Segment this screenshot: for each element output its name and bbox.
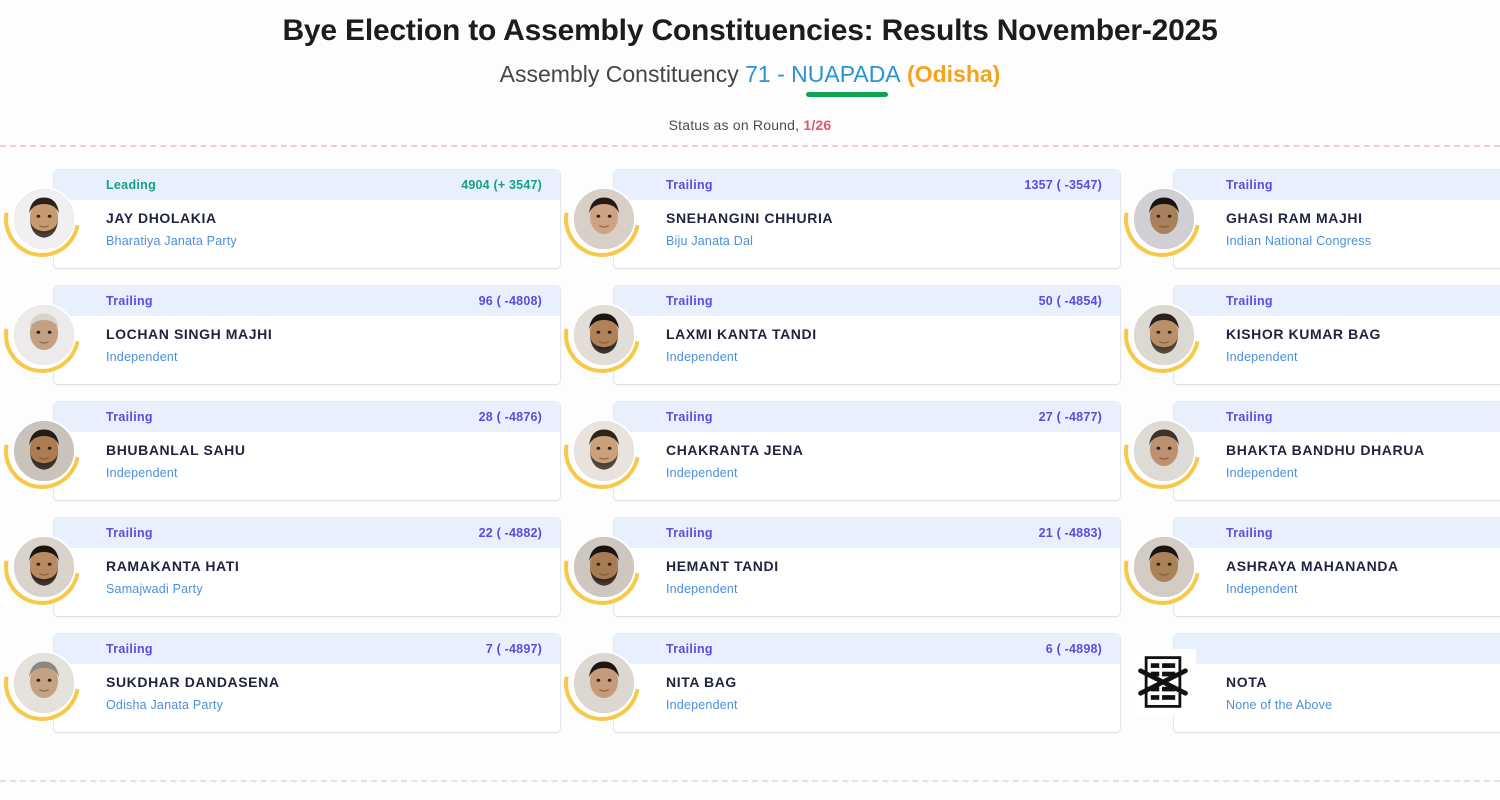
candidate-party[interactable]: Independent: [106, 466, 542, 481]
candidate-card[interactable]: Trailing 28 ( -4876) BHUBANLAL SAHU Inde…: [0, 393, 560, 509]
candidate-card-body[interactable]: Trailing 28 ( -4876) BHUBANLAL SAHU Inde…: [54, 402, 560, 500]
candidate-name: SNEHANGINI CHHURIA: [666, 210, 1102, 227]
vote-count: 22 ( -4882): [479, 526, 542, 540]
candidate-details: ASHRAYA MAHANANDA Independent: [1174, 548, 1500, 616]
candidate-card[interactable]: Trailing ASHRAYA MAHANANDA Independent: [1120, 509, 1500, 625]
candidate-details: LAXMI KANTA TANDI Independent: [614, 316, 1120, 384]
candidate-card-header: Trailing 1357 ( -3547): [614, 170, 1120, 200]
candidate-party[interactable]: Odisha Janata Party: [106, 698, 542, 713]
candidate-name: RAMAKANTA HATI: [106, 558, 542, 575]
candidate-details: NOTA None of the Above: [1174, 664, 1500, 732]
vote-count: 21 ( -4883): [1039, 526, 1102, 540]
candidate-card-body[interactable]: Trailing 1357 ( -3547) SNEHANGINI CHHURI…: [614, 170, 1120, 268]
candidate-name: GHASI RAM MAJHI: [1226, 210, 1500, 227]
candidate-party[interactable]: Independent: [1226, 466, 1500, 481]
candidate-card[interactable]: Trailing KISHOR KUMAR BAG Independent: [1120, 277, 1500, 393]
candidate-details: LOCHAN SINGH MAJHI Independent: [54, 316, 560, 384]
candidate-card-body[interactable]: Leading 4904 (+ 3547) JAY DHOLAKIA Bhara…: [54, 170, 560, 268]
candidate-party[interactable]: Independent: [1226, 350, 1500, 365]
candidate-card[interactable]: Trailing 27 ( -4877) CHAKRANTA JENA Inde…: [560, 393, 1120, 509]
candidate-party[interactable]: Independent: [106, 350, 542, 365]
avatar-wrap: [564, 297, 640, 373]
candidate-name: HEMANT TANDI: [666, 558, 1102, 575]
vote-count: 4904 (+ 3547): [461, 178, 542, 192]
candidate-name: LAXMI KANTA TANDI: [666, 326, 1102, 343]
vote-count: 50 ( -4854): [1039, 294, 1102, 308]
vote-count: 7 ( -4897): [486, 642, 542, 656]
candidate-card-header: Trailing 27 ( -4877): [614, 402, 1120, 432]
round-status-value: 1/26: [803, 117, 831, 133]
candidate-card-body[interactable]: Trailing 22 ( -4882) RAMAKANTA HATI Sama…: [54, 518, 560, 616]
candidate-card-body[interactable]: Trailing 7 ( -4897) SUKDHAR DANDASENA Od…: [54, 634, 560, 732]
round-status-prefix: Status as on Round,: [669, 117, 804, 133]
candidate-details: JAY DHOLAKIA Bharatiya Janata Party: [54, 200, 560, 268]
avatar: [1132, 187, 1196, 251]
candidate-details: KISHOR KUMAR BAG Independent: [1174, 316, 1500, 384]
candidate-party[interactable]: Independent: [666, 582, 1102, 597]
avatar: [1132, 535, 1196, 599]
candidate-name: BHAKTA BANDHU DHARUA: [1226, 442, 1500, 459]
status-badge: Trailing: [666, 294, 713, 308]
candidate-card-header: Trailing: [1174, 286, 1500, 316]
candidate-card[interactable]: Trailing 1357 ( -3547) SNEHANGINI CHHURI…: [560, 161, 1120, 277]
election-results-page: Bye Election to Assembly Constituencies:…: [0, 0, 1500, 800]
avatar-wrap: [1124, 181, 1200, 257]
candidate-card-header: Trailing: [1174, 518, 1500, 548]
status-badge: Leading: [106, 178, 156, 192]
candidate-details: RAMAKANTA HATI Samajwadi Party: [54, 548, 560, 616]
candidate-details: CHAKRANTA JENA Independent: [614, 432, 1120, 500]
candidate-name: ASHRAYA MAHANANDA: [1226, 558, 1500, 575]
avatar-wrap: [4, 181, 80, 257]
candidate-card-body[interactable]: Trailing 96 ( -4808) LOCHAN SINGH MAJHI …: [54, 286, 560, 384]
status-badge: Trailing: [106, 294, 153, 308]
status-badge: Trailing: [1226, 294, 1273, 308]
status-badge: Trailing: [1226, 410, 1273, 424]
candidate-party[interactable]: Independent: [666, 698, 1102, 713]
round-status: Status as on Round, 1/26: [0, 117, 1500, 133]
ac-name[interactable]: NUAPADA: [791, 61, 901, 87]
avatar-wrap: [4, 645, 80, 721]
avatar-wrap: [1124, 529, 1200, 605]
candidate-details: HEMANT TANDI Independent: [614, 548, 1120, 616]
avatar: [572, 187, 636, 251]
status-badge: Trailing: [666, 526, 713, 540]
avatar: [572, 303, 636, 367]
candidate-name: NITA BAG: [666, 674, 1102, 691]
avatar: [1132, 303, 1196, 367]
vote-count: 6 ( -4898): [1046, 642, 1102, 656]
candidate-party[interactable]: Samajwadi Party: [106, 582, 542, 597]
subtitle-prefix: Assembly Constituency: [500, 61, 745, 87]
vote-count: 28 ( -4876): [479, 410, 542, 424]
candidate-details: BHAKTA BANDHU DHARUA Independent: [1174, 432, 1500, 500]
avatar: [12, 419, 76, 483]
candidate-card-header: Trailing: [1174, 402, 1500, 432]
avatar-wrap: [564, 529, 640, 605]
title-underline-accent: [806, 92, 888, 97]
constituency-subtitle: Assembly Constituency 71 - NUAPADA (Odis…: [500, 60, 1001, 90]
candidate-card[interactable]: Trailing 7 ( -4897) SUKDHAR DANDASENA Od…: [0, 625, 560, 741]
avatar-wrap: [1124, 297, 1200, 373]
avatar: [572, 419, 636, 483]
candidate-name: NOTA: [1226, 674, 1500, 691]
page-title: Bye Election to Assembly Constituencies:…: [0, 12, 1500, 50]
candidate-card[interactable]: Trailing 6 ( -4898) NITA BAG Independent: [560, 625, 1120, 741]
candidate-card[interactable]: Trailing BHAKTA BANDHU DHARUA Independen…: [1120, 393, 1500, 509]
candidate-card-header: Trailing 50 ( -4854): [614, 286, 1120, 316]
candidate-card-header: Leading 4904 (+ 3547): [54, 170, 560, 200]
ac-dash: -: [771, 61, 791, 87]
candidate-party[interactable]: None of the Above: [1226, 698, 1500, 713]
candidate-party[interactable]: Independent: [666, 350, 1102, 365]
candidate-card-header: [1174, 634, 1500, 664]
page-header: Bye Election to Assembly Constituencies:…: [0, 0, 1500, 89]
candidate-name: SUKDHAR DANDASENA: [106, 674, 542, 691]
avatar-wrap: [4, 413, 80, 489]
nota-symbol-wrap: [1124, 645, 1200, 721]
status-badge: Trailing: [1226, 526, 1273, 540]
candidate-name: JAY DHOLAKIA: [106, 210, 542, 227]
candidate-party[interactable]: Bharatiya Janata Party: [106, 234, 542, 249]
candidate-card-body[interactable]: NOTA None of the Above: [1174, 634, 1500, 732]
candidate-card-header: Trailing 7 ( -4897): [54, 634, 560, 664]
candidate-party[interactable]: Independent: [666, 466, 1102, 481]
candidate-card[interactable]: NOTA None of the Above: [1120, 625, 1500, 741]
candidate-card[interactable]: Trailing 22 ( -4882) RAMAKANTA HATI Sama…: [0, 509, 560, 625]
candidate-name: CHAKRANTA JENA: [666, 442, 1102, 459]
vote-count: 1357 ( -3547): [1024, 178, 1102, 192]
candidate-party[interactable]: Independent: [1226, 582, 1500, 597]
status-badge: Trailing: [1226, 178, 1273, 192]
candidate-card-header: Trailing 6 ( -4898): [614, 634, 1120, 664]
candidate-card-header: Trailing 22 ( -4882): [54, 518, 560, 548]
candidate-card[interactable]: Trailing 21 ( -4883) HEMANT TANDI Indepe…: [560, 509, 1120, 625]
candidate-card-body[interactable]: Trailing KISHOR KUMAR BAG Independent: [1174, 286, 1500, 384]
avatar: [12, 651, 76, 715]
nota-icon: [1130, 649, 1196, 715]
candidate-card-body[interactable]: Trailing 50 ( -4854) LAXMI KANTA TANDI I…: [614, 286, 1120, 384]
candidate-card[interactable]: Trailing GHASI RAM MAJHI Indian National…: [1120, 161, 1500, 277]
candidate-card-body[interactable]: Trailing 6 ( -4898) NITA BAG Independent: [614, 634, 1120, 732]
ac-number[interactable]: 71: [745, 61, 771, 87]
avatar: [1132, 419, 1196, 483]
candidate-card-header: Trailing: [1174, 170, 1500, 200]
candidate-name: BHUBANLAL SAHU: [106, 442, 542, 459]
avatar-wrap: [564, 413, 640, 489]
avatar: [572, 651, 636, 715]
state-name: (Odisha): [907, 61, 1000, 87]
candidate-card-header: Trailing 28 ( -4876): [54, 402, 560, 432]
status-badge: Trailing: [666, 642, 713, 656]
candidate-card[interactable]: Leading 4904 (+ 3547) JAY DHOLAKIA Bhara…: [0, 161, 560, 277]
candidate-card-body[interactable]: Trailing 21 ( -4883) HEMANT TANDI Indepe…: [614, 518, 1120, 616]
candidate-party[interactable]: Biju Janata Dal: [666, 234, 1102, 249]
candidate-card-header: Trailing 21 ( -4883): [614, 518, 1120, 548]
candidate-card-body[interactable]: Trailing GHASI RAM MAJHI Indian National…: [1174, 170, 1500, 268]
candidate-details: GHASI RAM MAJHI Indian National Congress: [1174, 200, 1500, 268]
avatar-wrap: [1124, 413, 1200, 489]
candidate-details: BHUBANLAL SAHU Independent: [54, 432, 560, 500]
status-badge: Trailing: [106, 526, 153, 540]
status-badge: Trailing: [106, 642, 153, 656]
vote-count: 96 ( -4808): [479, 294, 542, 308]
avatar-wrap: [564, 181, 640, 257]
avatar: [12, 535, 76, 599]
vote-count: 27 ( -4877): [1039, 410, 1102, 424]
candidate-card-body[interactable]: Trailing 27 ( -4877) CHAKRANTA JENA Inde…: [614, 402, 1120, 500]
candidate-details: NITA BAG Independent: [614, 664, 1120, 732]
candidate-name: LOCHAN SINGH MAJHI: [106, 326, 542, 343]
header-divider: [0, 145, 1500, 147]
avatar-wrap: [564, 645, 640, 721]
status-badge: Trailing: [666, 410, 713, 424]
candidate-card[interactable]: Trailing 50 ( -4854) LAXMI KANTA TANDI I…: [560, 277, 1120, 393]
avatar: [12, 187, 76, 251]
candidate-details: SUKDHAR DANDASENA Odisha Janata Party: [54, 664, 560, 732]
footer-divider: [0, 780, 1500, 782]
candidate-details: SNEHANGINI CHHURIA Biju Janata Dal: [614, 200, 1120, 268]
candidate-grid: Leading 4904 (+ 3547) JAY DHOLAKIA Bhara…: [0, 161, 1500, 741]
candidate-card-header: Trailing 96 ( -4808): [54, 286, 560, 316]
avatar-wrap: [4, 297, 80, 373]
status-badge: Trailing: [666, 178, 713, 192]
candidate-card-body[interactable]: Trailing BHAKTA BANDHU DHARUA Independen…: [1174, 402, 1500, 500]
avatar: [572, 535, 636, 599]
candidate-card-body[interactable]: Trailing ASHRAYA MAHANANDA Independent: [1174, 518, 1500, 616]
avatar-wrap: [4, 529, 80, 605]
avatar: [12, 303, 76, 367]
candidate-name: KISHOR KUMAR BAG: [1226, 326, 1500, 343]
candidate-card[interactable]: Trailing 96 ( -4808) LOCHAN SINGH MAJHI …: [0, 277, 560, 393]
status-badge: Trailing: [106, 410, 153, 424]
candidate-party[interactable]: Indian National Congress: [1226, 234, 1500, 249]
